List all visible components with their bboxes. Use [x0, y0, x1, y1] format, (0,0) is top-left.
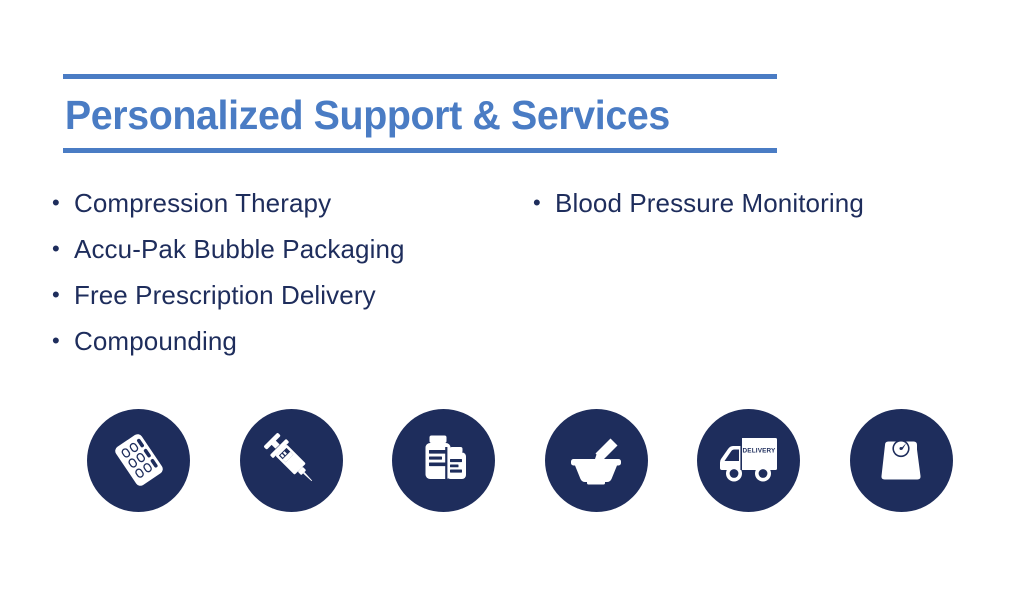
list-item-label: Accu-Pak Bubble Packaging	[74, 226, 405, 272]
page-title: Personalized Support & Services	[63, 79, 748, 148]
blister-pack-icon	[110, 431, 168, 489]
icon-circle-pill-bottles	[392, 409, 495, 512]
bullet-dot-icon: •	[52, 318, 74, 364]
list-item: • Free Prescription Delivery	[52, 272, 405, 318]
list-item-label: Blood Pressure Monitoring	[555, 180, 864, 226]
list-item: • Compounding	[52, 318, 405, 364]
list-item-label: Free Prescription Delivery	[74, 272, 376, 318]
title-block: Personalized Support & Services	[63, 74, 777, 153]
list-item-label: Compression Therapy	[74, 180, 331, 226]
services-list-group: • Compression Therapy • Accu-Pak Bubble …	[0, 180, 1025, 370]
mortar-and-pestle-icon	[566, 430, 626, 490]
list-item: • Accu-Pak Bubble Packaging	[52, 226, 405, 272]
list-item: • Compression Therapy	[52, 180, 405, 226]
bullet-dot-icon: •	[533, 180, 555, 226]
services-column-right: • Blood Pressure Monitoring	[533, 180, 864, 226]
list-item-label: Compounding	[74, 318, 237, 364]
delivery-van-text: DELIVERY	[742, 448, 776, 455]
bathroom-scale-icon	[873, 432, 929, 488]
pill-bottles-icon	[415, 431, 473, 489]
bullet-dot-icon: •	[52, 272, 74, 318]
icon-circle-delivery-van: DELIVERY	[697, 409, 800, 512]
services-column-left: • Compression Therapy • Accu-Pak Bubble …	[52, 180, 405, 364]
bullet-dot-icon: •	[52, 180, 74, 226]
bullet-dot-icon: •	[52, 226, 74, 272]
title-rule-bottom	[63, 148, 777, 153]
delivery-van-icon: DELIVERY	[717, 435, 781, 485]
icon-circle-syringe	[240, 409, 343, 512]
list-item: • Blood Pressure Monitoring	[533, 180, 864, 226]
icon-circle-blister-pack	[87, 409, 190, 512]
icon-circle-mortar-and-pestle	[545, 409, 648, 512]
icon-circle-bathroom-scale	[850, 409, 953, 512]
service-icon-row: DELIVERY	[87, 402, 953, 518]
syringe-icon	[260, 429, 322, 491]
